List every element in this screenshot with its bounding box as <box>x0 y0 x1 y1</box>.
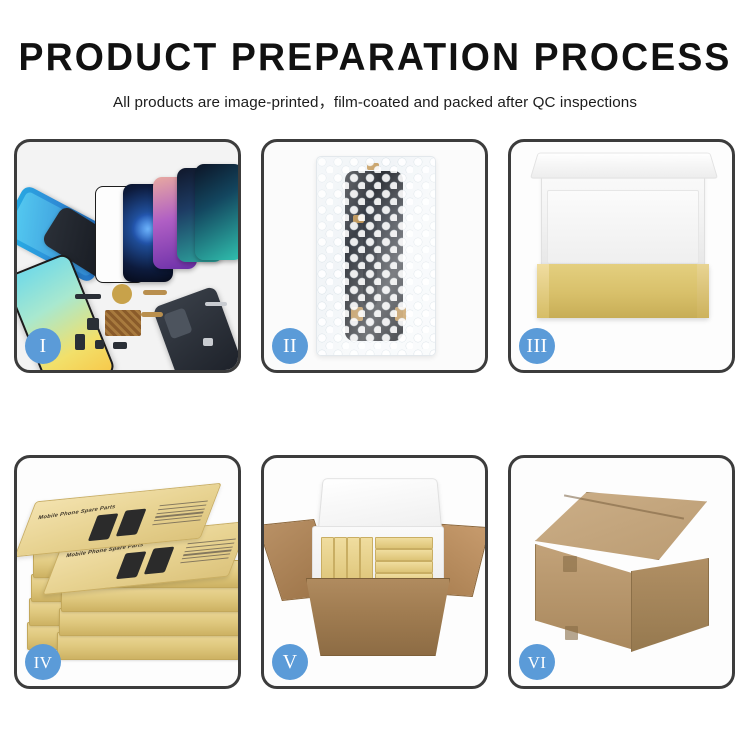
step-panel-3: III <box>508 139 735 373</box>
inner-box <box>375 537 433 549</box>
box-stack: Mobile Phone Spare Parts Mobile Phone Sp… <box>23 482 231 672</box>
stacked-box <box>57 632 238 660</box>
sim-tray-part <box>75 334 85 350</box>
step-badge-6: VI <box>519 644 555 680</box>
logic-board-part <box>105 310 141 336</box>
step-badge-3: III <box>519 328 555 364</box>
speaker-part <box>112 284 132 304</box>
step-badge-4: IV <box>25 644 61 680</box>
flex-cable-part <box>143 290 167 295</box>
spec-text-lines <box>178 538 236 569</box>
carton-tab-upper <box>563 556 577 572</box>
header: PRODUCT PREPARATION PROCESS All products… <box>0 0 750 112</box>
outer-carton-open <box>306 578 450 656</box>
step-panel-5: V <box>261 455 488 689</box>
carton-side-face <box>631 558 709 652</box>
yellow-box-base <box>537 264 709 318</box>
step-badge-2: II <box>272 328 308 364</box>
page-subtitle: All products are image-printed，film-coat… <box>0 90 750 112</box>
flex-cable-2-part <box>141 312 163 317</box>
battery-connector-part <box>75 294 101 299</box>
small-ic-part <box>95 340 104 349</box>
product-photo-a <box>116 551 147 579</box>
box-lip-right <box>697 264 709 318</box>
stacked-box <box>59 608 238 636</box>
inner-box <box>375 561 433 573</box>
step-panel-6: VI <box>508 455 735 689</box>
product-photo-b <box>116 509 147 537</box>
product-photo-a <box>88 513 119 541</box>
camera-module-part <box>87 318 99 330</box>
step-badge-1: I <box>25 328 61 364</box>
teal-phone-2-icon <box>195 164 238 260</box>
bubble-wrap-package <box>316 156 436 356</box>
step-panel-2: II <box>261 139 488 373</box>
tweezers-part <box>205 302 227 306</box>
carton-front-face <box>535 544 634 650</box>
box-lip-left <box>537 264 549 318</box>
process-steps-grid: I II <box>14 139 736 689</box>
carton-top-face <box>535 492 707 560</box>
product-preparation-infographic: PRODUCT PREPARATION PROCESS All products… <box>0 0 750 750</box>
step-panel-4: Mobile Phone Spare Parts Mobile Phone Sp… <box>14 455 241 689</box>
step-panel-1: I <box>14 139 241 373</box>
screw-set-part <box>203 338 213 346</box>
phone-backplate-icon <box>152 286 238 370</box>
foam-sheet <box>547 190 699 264</box>
spec-text-lines <box>150 500 208 531</box>
product-photo-b <box>144 547 175 575</box>
plastic-glare <box>317 157 435 355</box>
carton-tab-lower <box>565 626 578 640</box>
bracket-part <box>113 342 127 349</box>
step-badge-5: V <box>272 644 308 680</box>
inner-box <box>375 549 433 561</box>
page-title: PRODUCT PREPARATION PROCESS <box>15 38 735 77</box>
